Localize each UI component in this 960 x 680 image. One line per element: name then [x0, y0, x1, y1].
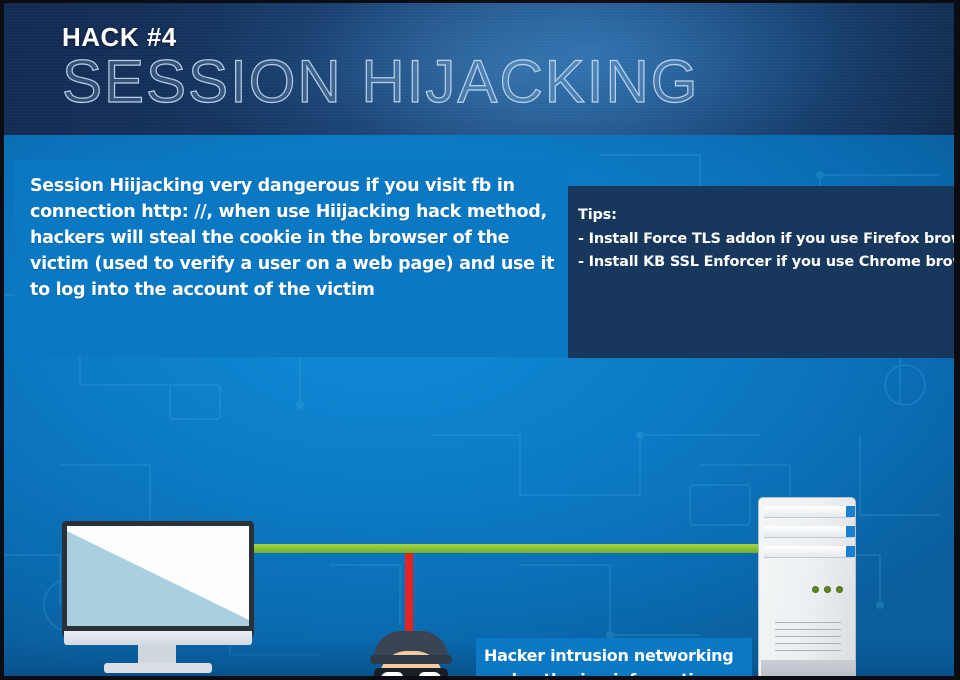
page-title: SESSION HIJACKING	[62, 52, 699, 112]
server-status-leds	[812, 586, 843, 593]
tips-item-chrome: - Install KB SSL Enforcer if you use Chr…	[578, 251, 954, 273]
poster-header: HACK #4 SESSION HIJACKING	[0, 0, 960, 135]
server-bay-indicator	[846, 506, 855, 517]
server-vents	[775, 622, 841, 657]
server-drive-bay	[764, 526, 852, 538]
network-cable-green	[238, 544, 776, 553]
intercept-line-red	[405, 549, 413, 641]
monitor-screen	[67, 526, 249, 626]
server-body	[758, 497, 856, 680]
intro-text: Session Hiijacking very dangerous if you…	[30, 174, 564, 303]
server-drive-bay	[764, 546, 852, 558]
intro-panel: Session Hiijacking very dangerous if you…	[14, 160, 568, 357]
server-bay-indicator	[846, 546, 855, 557]
server-led	[824, 586, 831, 593]
monitor-bezel	[62, 521, 254, 637]
hacker-eye	[380, 672, 404, 680]
tips-title: Tips:	[578, 204, 954, 226]
monitor-stand-base	[104, 663, 212, 673]
monitor-chin	[64, 631, 252, 645]
hacker-beanie-brim	[370, 655, 452, 664]
server-led	[836, 586, 843, 593]
server-led	[812, 586, 819, 593]
hacker-eye	[418, 672, 442, 680]
tips-content: Tips: - Install Force TLS addon if you u…	[578, 204, 954, 273]
server-tower	[758, 497, 856, 680]
hacker-eye-mask-icon	[374, 668, 448, 680]
server-bay-indicator	[846, 526, 855, 537]
hacker-note: Hacker intrusion networking and gatherin…	[476, 638, 752, 680]
victim-monitor	[62, 521, 254, 673]
tips-panel: Tips: - Install Force TLS addon if you u…	[568, 186, 960, 358]
infographic-poster: HACK #4 SESSION HIJACKING	[0, 0, 960, 680]
tips-item-firefox: - Install Force TLS addon if you use Fir…	[578, 228, 954, 250]
hacker-figure	[352, 631, 470, 680]
server-base	[761, 660, 855, 680]
server-drive-bay	[764, 506, 852, 518]
monitor-stand-neck	[138, 645, 176, 665]
